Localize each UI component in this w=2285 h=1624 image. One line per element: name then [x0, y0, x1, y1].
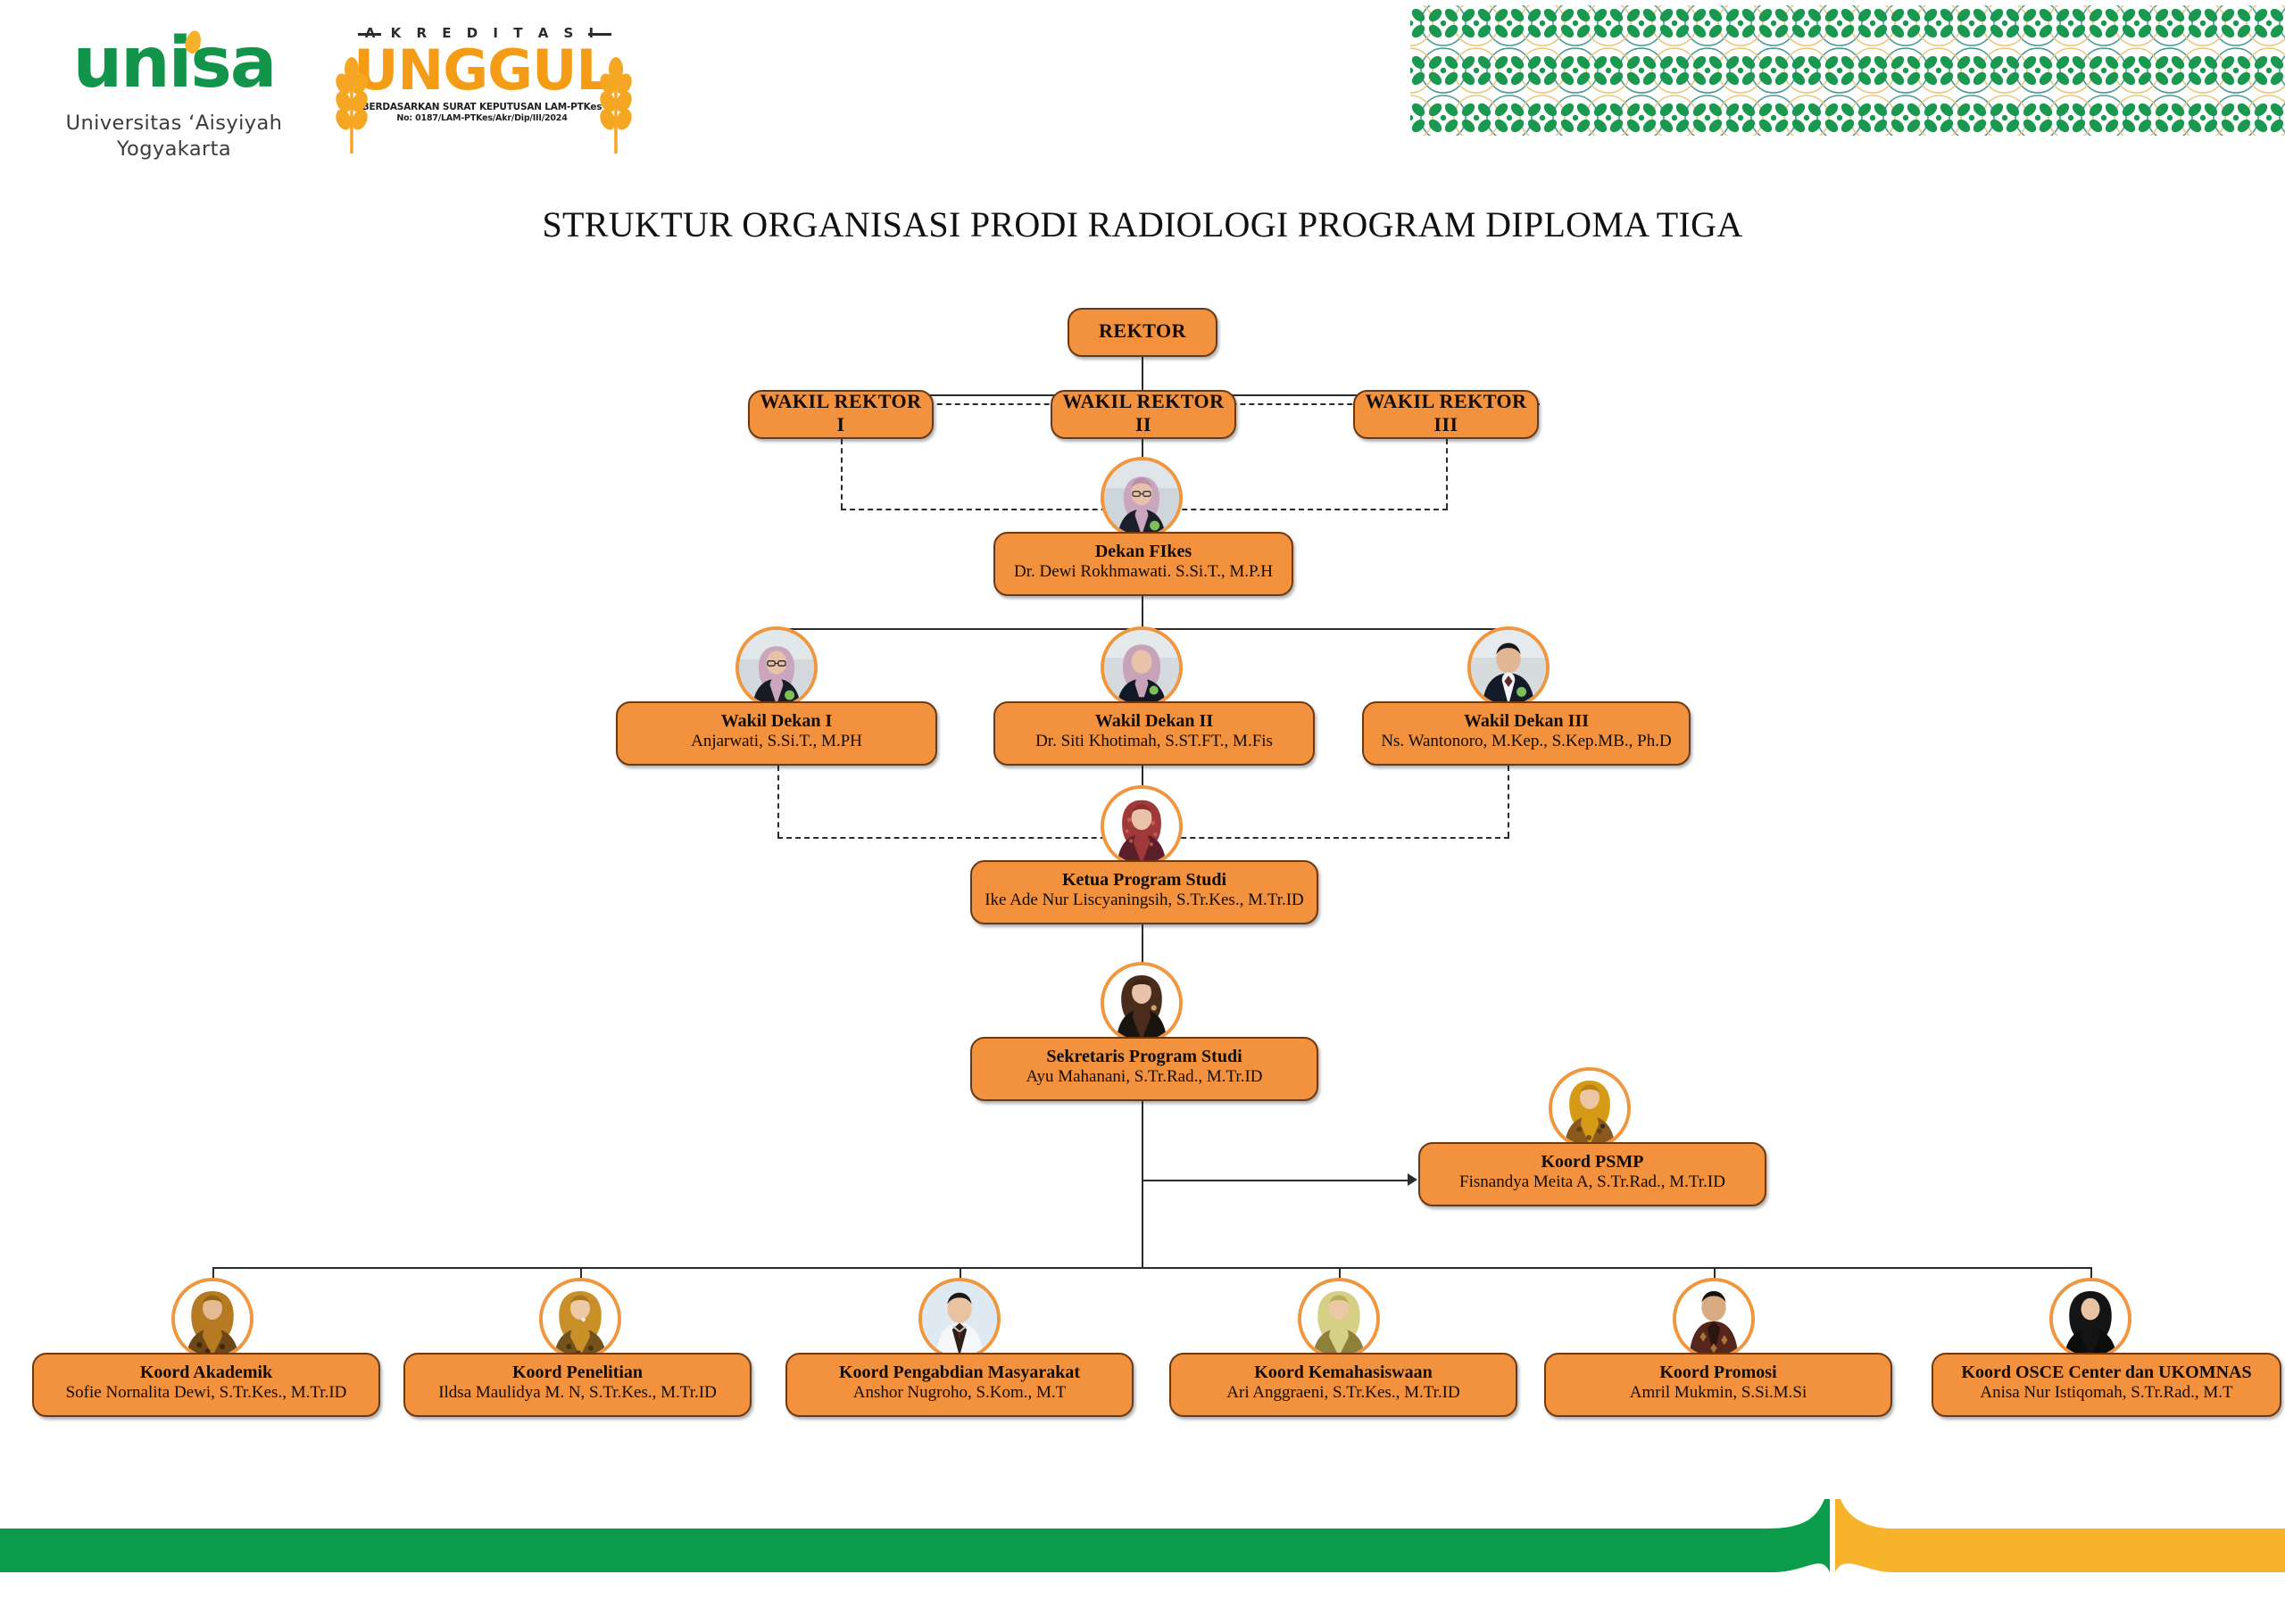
avatar-koord-pengabdian-photo — [922, 1281, 997, 1356]
avatar-dekan-photo — [1104, 460, 1179, 535]
avatar-koord-kemahasiswaan — [1298, 1278, 1380, 1360]
akreditasi-unggul-logo: A K R E D I T A S I UNGGUL BERDASARKAN S… — [317, 20, 647, 153]
node-wakil-dekan-1-title: Wakil Dekan I — [721, 711, 832, 732]
node-koord-akademik[interactable]: Koord Akademik Sofie Nornalita Dewi, S.T… — [32, 1353, 380, 1417]
node-koord-akademik-title: Koord Akademik — [140, 1363, 272, 1383]
node-koord-penelitian-name: Ildsa Maulidya M. N, S.Tr.Kes., M.Tr.ID — [438, 1383, 717, 1404]
node-koord-osce[interactable]: Koord OSCE Center dan UKOMNAS Anisa Nur … — [1932, 1353, 2281, 1417]
node-koord-pengabdian-name: Anshor Nugroho, S.Kom., M.T — [853, 1383, 1067, 1404]
unisa-logo-line1: Universitas ‘Aisyiyah — [45, 111, 303, 137]
unisa-logo-line2: Yogyakarta — [45, 137, 303, 162]
avatar-koord-pengabdian — [918, 1278, 1001, 1360]
node-wakil-rektor-2[interactable]: WAKIL REKTOR II — [1051, 390, 1236, 439]
edge-sekprodi-to-psmp — [1142, 1180, 1409, 1181]
edge-wr3-down — [1446, 439, 1448, 509]
node-rektor[interactable]: REKTOR — [1068, 308, 1217, 357]
unisa-wordmark: unisa — [45, 25, 303, 107]
edge-koord-bus — [212, 1267, 2090, 1269]
node-wakil-dekan-3-title: Wakil Dekan III — [1464, 711, 1589, 732]
avatar-koord-akademik — [171, 1278, 253, 1360]
unisa-logo: unisa Universitas ‘Aisyiyah Yogyakarta — [45, 25, 303, 159]
node-wakil-dekan-2-title: Wakil Dekan II — [1095, 711, 1213, 732]
wheat-icon-right — [597, 48, 635, 153]
node-ketua-prodi[interactable]: Ketua Program Studi Ike Ade Nur Liscyani… — [970, 860, 1318, 924]
node-koord-osce-title: Koord OSCE Center dan UKOMNAS — [1961, 1363, 2251, 1383]
avatar-wakil-dekan-1 — [735, 626, 818, 708]
node-koord-penelitian[interactable]: Koord Penelitian Ildsa Maulidya M. N, S.… — [403, 1353, 752, 1417]
avatar-dekan — [1101, 457, 1183, 539]
avatar-wakil-dekan-3 — [1467, 626, 1550, 708]
node-koord-psmp-name: Fisnandya Meita A, S.Tr.Rad., M.Tr.ID — [1459, 1172, 1725, 1193]
akreditasi-label: A K R E D I T A S I — [317, 25, 647, 41]
node-dekan-title: Dekan FIkes — [1095, 542, 1192, 562]
node-koord-pengabdian[interactable]: Koord Pengabdian Masyarakat Anshor Nugro… — [785, 1353, 1134, 1417]
node-wakil-rektor-3[interactable]: WAKIL REKTOR III — [1353, 390, 1539, 439]
node-wakil-dekan-3[interactable]: Wakil Dekan III Ns. Wantonoro, M.Kep., S… — [1362, 701, 1691, 766]
node-koord-pengabdian-title: Koord Pengabdian Masyarakat — [839, 1363, 1080, 1383]
node-wakil-dekan-2[interactable]: Wakil Dekan II Dr. Siti Khotimah, S.ST.F… — [993, 701, 1315, 766]
edge-wd1-down — [777, 766, 779, 837]
node-dekan-name: Dr. Dewi Rokhmawati. S.Si.T., M.P.H — [1014, 562, 1273, 583]
wheat-icon-left — [333, 48, 370, 153]
avatar-koord-psmp — [1549, 1067, 1631, 1149]
avatar-sekretaris-prodi — [1101, 962, 1183, 1044]
node-koord-promosi-title: Koord Promosi — [1659, 1363, 1776, 1383]
node-koord-promosi[interactable]: Koord Promosi Amril Mukmin, S.Si.M.Si — [1544, 1353, 1892, 1417]
avatar-koord-promosi-photo — [1676, 1281, 1751, 1356]
avatar-koord-osce — [2049, 1278, 2131, 1360]
edge-wd3-down — [1508, 766, 1509, 837]
node-wakil-rektor-2-title: WAKIL REKTOR II — [1061, 390, 1226, 435]
arrowhead-psmp — [1408, 1173, 1417, 1186]
page-title: STRUKTUR ORGANISASI PRODI RADIOLOGI PROG… — [0, 203, 2285, 245]
node-koord-psmp[interactable]: Koord PSMP Fisnandya Meita A, S.Tr.Rad.,… — [1418, 1142, 1766, 1206]
avatar-koord-kemahasiswaan-photo — [1301, 1281, 1376, 1356]
node-dekan[interactable]: Dekan FIkes Dr. Dewi Rokhmawati. S.Si.T.… — [993, 532, 1293, 596]
node-ketua-prodi-name: Ike Ade Nur Liscyaningsih, S.Tr.Kes., M.… — [985, 891, 1304, 911]
avatar-sekretaris-prodi-photo — [1104, 965, 1179, 1040]
org-chart-page: unisa Universitas ‘Aisyiyah Yogyakarta — [0, 0, 2285, 1620]
node-wakil-dekan-2-name: Dr. Siti Khotimah, S.ST.FT., M.Fis — [1035, 732, 1273, 752]
avatar-koord-promosi — [1673, 1278, 1755, 1360]
avatar-ketua-prodi — [1101, 785, 1183, 867]
node-koord-akademik-name: Sofie Nornalita Dewi, S.Tr.Kes., M.Tr.ID — [66, 1383, 347, 1404]
node-koord-osce-name: Anisa Nur Istiqomah, S.Tr.Rad., M.T — [1980, 1383, 2232, 1404]
edge-dekan-stem — [1142, 596, 1143, 628]
node-wakil-rektor-1-title: WAKIL REKTOR I — [759, 390, 923, 435]
node-sekretaris-prodi[interactable]: Sekretaris Program Studi Ayu Mahanani, S… — [970, 1037, 1318, 1101]
avatar-wakil-dekan-2-photo — [1104, 630, 1179, 705]
edge-rektor-stem — [1142, 357, 1143, 394]
avatar-koord-psmp-photo — [1552, 1071, 1627, 1146]
avatar-wakil-dekan-1-photo — [739, 630, 814, 705]
avatar-koord-penelitian-photo — [543, 1281, 618, 1356]
node-koord-promosi-name: Amril Mukmin, S.Si.M.Si — [1630, 1383, 1807, 1404]
node-sekretaris-prodi-title: Sekretaris Program Studi — [1046, 1047, 1242, 1067]
node-rektor-title: REKTOR — [1099, 319, 1186, 342]
footer-bands — [0, 1499, 2285, 1620]
edge-sekprodi-stem — [1142, 1101, 1143, 1269]
node-koord-kemahasiswaan-title: Koord Kemahasiswaan — [1254, 1363, 1432, 1383]
node-ketua-prodi-title: Ketua Program Studi — [1062, 870, 1226, 891]
node-sekretaris-prodi-name: Ayu Mahanani, S.Tr.Rad., M.Tr.ID — [1026, 1067, 1263, 1088]
batik-ornament — [1410, 0, 2285, 143]
avatar-koord-penelitian — [539, 1278, 621, 1360]
node-wakil-dekan-1-name: Anjarwati, S.Si.T., M.PH — [691, 732, 862, 752]
node-koord-kemahasiswaan[interactable]: Koord Kemahasiswaan Ari Anggraeni, S.Tr.… — [1169, 1353, 1517, 1417]
node-koord-psmp-title: Koord PSMP — [1541, 1152, 1644, 1172]
unisa-wordmark-text: unisa — [45, 25, 303, 102]
avatar-wakil-dekan-3-photo — [1471, 630, 1546, 705]
node-koord-kemahasiswaan-name: Ari Anggraeni, S.Tr.Kes., M.Tr.ID — [1226, 1383, 1459, 1404]
avatar-koord-osce-photo — [2053, 1281, 2128, 1356]
node-wakil-dekan-3-name: Ns. Wantonoro, M.Kep., S.Kep.MB., Ph.D — [1381, 732, 1671, 752]
avatar-koord-akademik-photo — [175, 1281, 250, 1356]
avatar-ketua-prodi-photo — [1104, 789, 1179, 864]
node-koord-penelitian-title: Koord Penelitian — [512, 1363, 643, 1383]
node-wakil-dekan-1[interactable]: Wakil Dekan I Anjarwati, S.Si.T., M.PH — [616, 701, 937, 766]
avatar-wakil-dekan-2 — [1101, 626, 1183, 708]
node-wakil-rektor-3-title: WAKIL REKTOR III — [1364, 390, 1528, 435]
edge-kaprodi-to-sekprodi — [1142, 924, 1143, 964]
node-wakil-rektor-1[interactable]: WAKIL REKTOR I — [748, 390, 934, 439]
edge-wr1-down — [841, 439, 843, 509]
